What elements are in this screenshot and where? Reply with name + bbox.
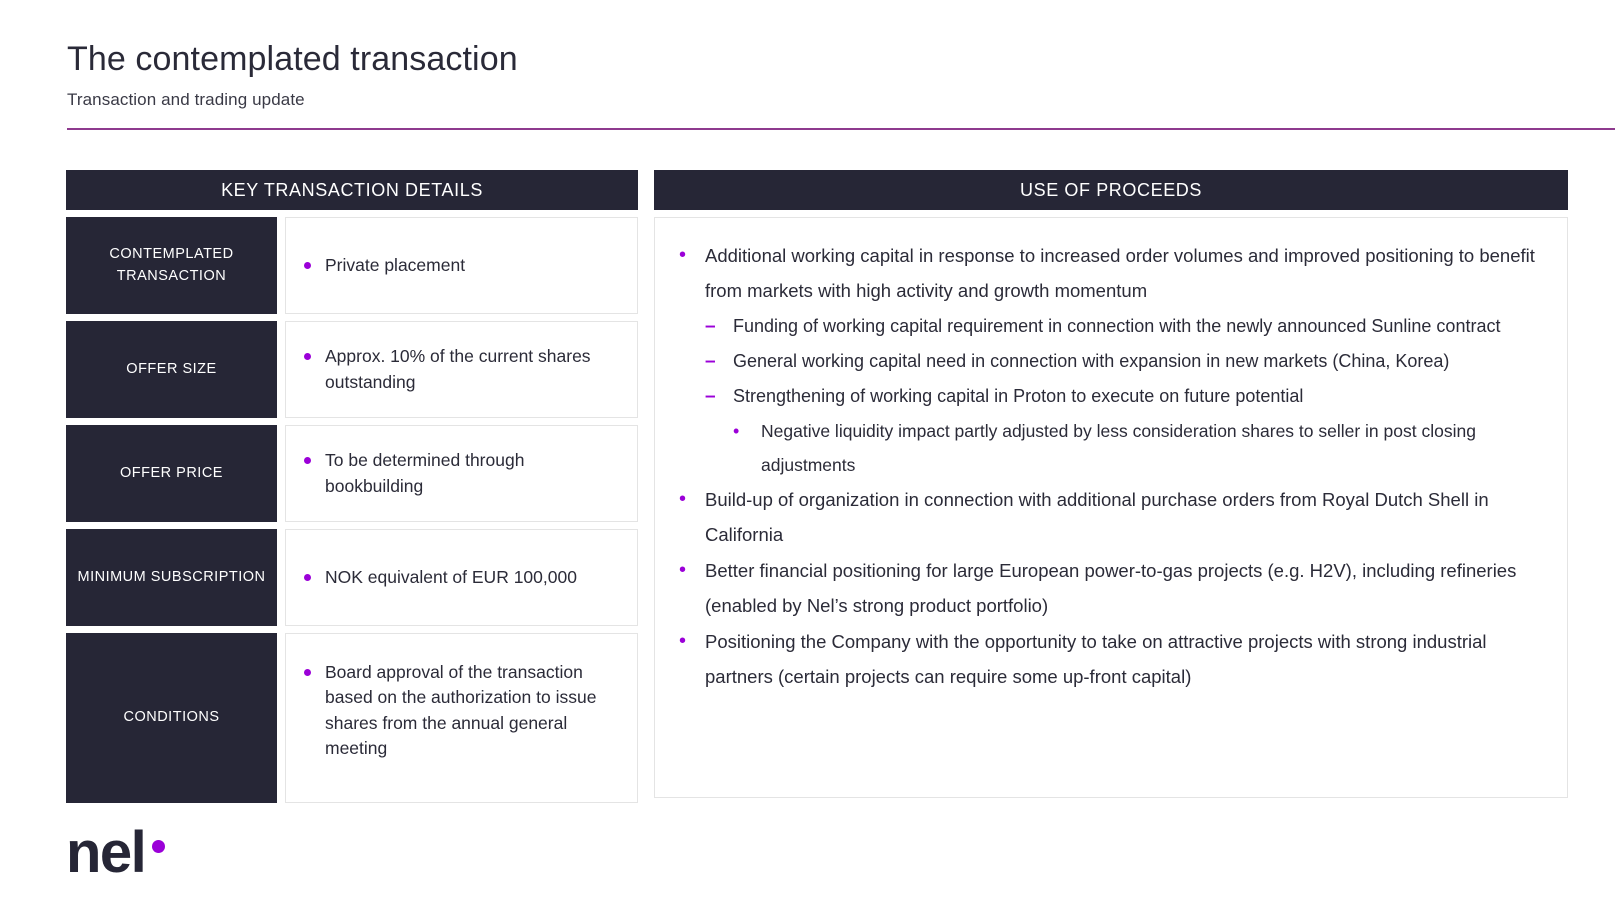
list-item: Approx. 10% of the current shares outsta… — [304, 344, 623, 395]
row-value: NOK equivalent of EUR 100,000 — [325, 565, 577, 590]
slide-header: The contemplated transaction Transaction… — [67, 40, 1567, 110]
table-row: OFFER SIZE Approx. 10% of the current sh… — [66, 321, 638, 418]
row-label-contemplated-transaction: CONTEMPLATED TRANSACTION — [66, 217, 277, 314]
bullet-dash-icon: – — [705, 309, 733, 344]
use-of-proceeds-band: USE OF PROCEEDS — [654, 170, 1568, 210]
logo-wordmark: nel — [66, 826, 145, 879]
bullet-text: Better financial positioning for large E… — [705, 553, 1545, 623]
bullet-dash-icon: – — [705, 344, 733, 379]
row-body-contemplated-transaction: Private placement — [285, 217, 638, 314]
table-row: MINIMUM SUBSCRIPTION NOK equivalent of E… — [66, 529, 638, 626]
list-item: – General working capital need in connec… — [705, 344, 1545, 379]
use-of-proceeds-panel: • Additional working capital in response… — [654, 217, 1568, 798]
row-label-conditions: CONDITIONS — [66, 633, 277, 803]
list-item: • Additional working capital in response… — [677, 238, 1545, 308]
row-value: Private placement — [325, 253, 465, 278]
list-item: To be determined through bookbuilding — [304, 448, 623, 499]
table-row: CONDITIONS Board approval of the transac… — [66, 633, 638, 803]
bullet-text: Positioning the Company with the opportu… — [705, 624, 1545, 694]
bullet-text: Strengthening of working capital in Prot… — [733, 379, 1303, 414]
bullet-dot-icon: • — [677, 553, 705, 588]
row-value: To be determined through bookbuilding — [325, 448, 623, 499]
bullet-dot-icon — [304, 353, 311, 360]
row-value: Approx. 10% of the current shares outsta… — [325, 344, 623, 395]
page-subtitle: Transaction and trading update — [67, 90, 1567, 110]
row-body-offer-price: To be determined through bookbuilding — [285, 425, 638, 522]
page-title: The contemplated transaction — [67, 40, 1567, 79]
list-item: NOK equivalent of EUR 100,000 — [304, 565, 577, 590]
row-body-conditions: Board approval of the transaction based … — [285, 633, 638, 803]
bullet-dot-icon: • — [677, 238, 705, 273]
row-body-minimum-subscription: NOK equivalent of EUR 100,000 — [285, 529, 638, 626]
bullet-dash-icon: – — [705, 379, 733, 414]
bullet-dot-icon: • — [677, 482, 705, 517]
table-row: CONTEMPLATED TRANSACTION Private placeme… — [66, 217, 638, 314]
list-item: Board approval of the transaction based … — [304, 660, 623, 762]
key-transaction-details-rows: CONTEMPLATED TRANSACTION Private placeme… — [66, 217, 638, 803]
header-accent-rule — [67, 128, 1615, 130]
bullet-dot-icon: • — [733, 414, 761, 448]
slide-canvas: The contemplated transaction Transaction… — [0, 0, 1615, 917]
row-label-minimum-subscription: MINIMUM SUBSCRIPTION — [66, 529, 277, 626]
row-label-offer-size: OFFER SIZE — [66, 321, 277, 418]
logo-dot-icon — [152, 840, 165, 853]
list-item: • Positioning the Company with the oppor… — [677, 624, 1545, 694]
nel-logo: nel — [66, 826, 165, 879]
list-item: • Negative liquidity impact partly adjus… — [733, 414, 1545, 482]
list-item: – Strengthening of working capital in Pr… — [705, 379, 1545, 414]
bullet-dot-icon — [304, 262, 311, 269]
bullet-dot-icon: • — [677, 624, 705, 659]
bullet-text: Build-up of organization in connection w… — [705, 482, 1545, 552]
bullet-text: General working capital need in connecti… — [733, 344, 1449, 379]
list-item: – Funding of working capital requirement… — [705, 309, 1545, 344]
row-value: Board approval of the transaction based … — [325, 660, 623, 762]
list-item: • Better financial positioning for large… — [677, 553, 1545, 623]
row-body-offer-size: Approx. 10% of the current shares outsta… — [285, 321, 638, 418]
bullet-dot-icon — [304, 457, 311, 464]
bullet-dot-icon — [304, 669, 311, 676]
bullet-text: Additional working capital in response t… — [705, 238, 1545, 308]
table-row: OFFER PRICE To be determined through boo… — [66, 425, 638, 522]
use-of-proceeds-column: USE OF PROCEEDS • Additional working cap… — [654, 170, 1568, 798]
key-transaction-details-band: KEY TRANSACTION DETAILS — [66, 170, 638, 210]
bullet-dot-icon — [304, 574, 311, 581]
bullet-text: Funding of working capital requirement i… — [733, 309, 1500, 344]
key-transaction-details-column: KEY TRANSACTION DETAILS CONTEMPLATED TRA… — [66, 170, 638, 803]
list-item: • Build-up of organization in connection… — [677, 482, 1545, 552]
row-label-offer-price: OFFER PRICE — [66, 425, 277, 522]
list-item: Private placement — [304, 253, 465, 278]
bullet-text: Negative liquidity impact partly adjuste… — [761, 414, 1545, 482]
